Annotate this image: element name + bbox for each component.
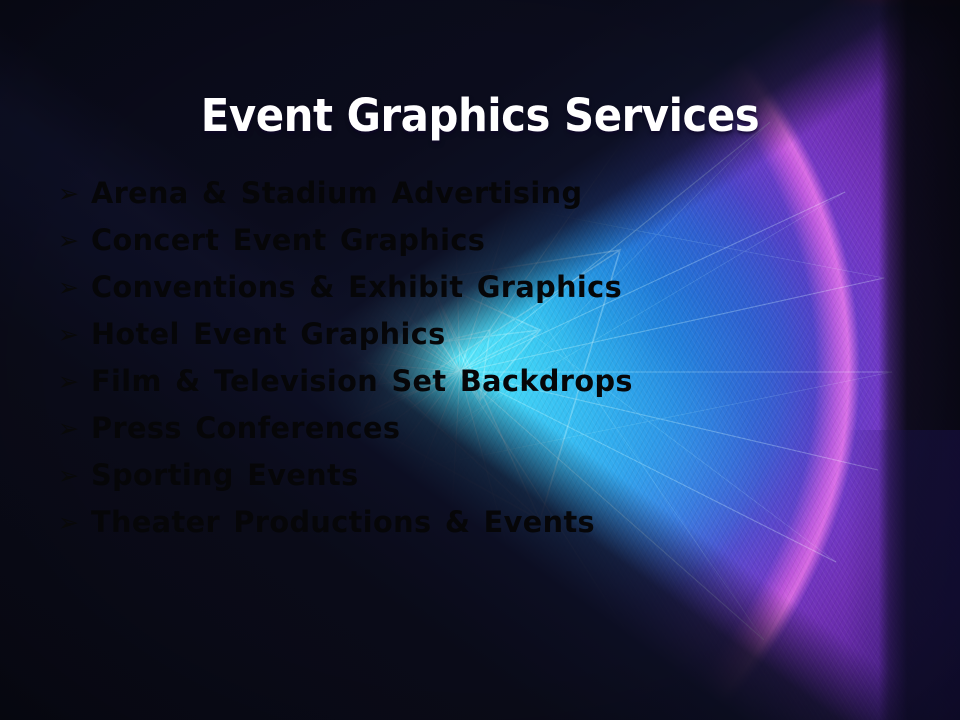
slide-title: Event Graphics Services (34, 93, 927, 138)
list-item: ➢ Hotel Event Graphics (58, 311, 918, 358)
list-item: ➢ Sporting Events (58, 452, 918, 499)
presentation-slide: Event Graphics Services ➢ Arena & Stadiu… (0, 0, 960, 720)
list-item-label: Theater Productions & Events (91, 499, 595, 546)
arrow-bullet-icon: ➢ (58, 217, 91, 264)
list-item-label: Concert Event Graphics (91, 217, 485, 264)
list-item: ➢ Press Conferences (58, 405, 918, 452)
list-item-label: Press Conferences (91, 405, 400, 452)
arrow-bullet-icon: ➢ (58, 170, 91, 217)
arrow-bullet-icon: ➢ (58, 499, 91, 546)
arrow-bullet-icon: ➢ (58, 405, 91, 452)
list-item: ➢ Theater Productions & Events (58, 499, 918, 546)
list-item: ➢ Conventions & Exhibit Graphics (58, 264, 918, 311)
slide-content: Event Graphics Services ➢ Arena & Stadiu… (0, 0, 960, 720)
arrow-bullet-icon: ➢ (58, 358, 91, 405)
list-item-label: Hotel Event Graphics (91, 311, 446, 358)
list-item-label: Sporting Events (91, 452, 359, 499)
arrow-bullet-icon: ➢ (58, 452, 91, 499)
list-item-label: Conventions & Exhibit Graphics (91, 264, 622, 311)
list-item: ➢ Film & Television Set Backdrops (58, 358, 918, 405)
services-bullet-list: ➢ Arena & Stadium Advertising ➢ Concert … (58, 170, 918, 546)
list-item-label: Film & Television Set Backdrops (91, 358, 633, 405)
list-item: ➢ Concert Event Graphics (58, 217, 918, 264)
list-item-label: Arena & Stadium Advertising (91, 170, 582, 217)
arrow-bullet-icon: ➢ (58, 311, 91, 358)
list-item: ➢ Arena & Stadium Advertising (58, 170, 918, 217)
arrow-bullet-icon: ➢ (58, 264, 91, 311)
